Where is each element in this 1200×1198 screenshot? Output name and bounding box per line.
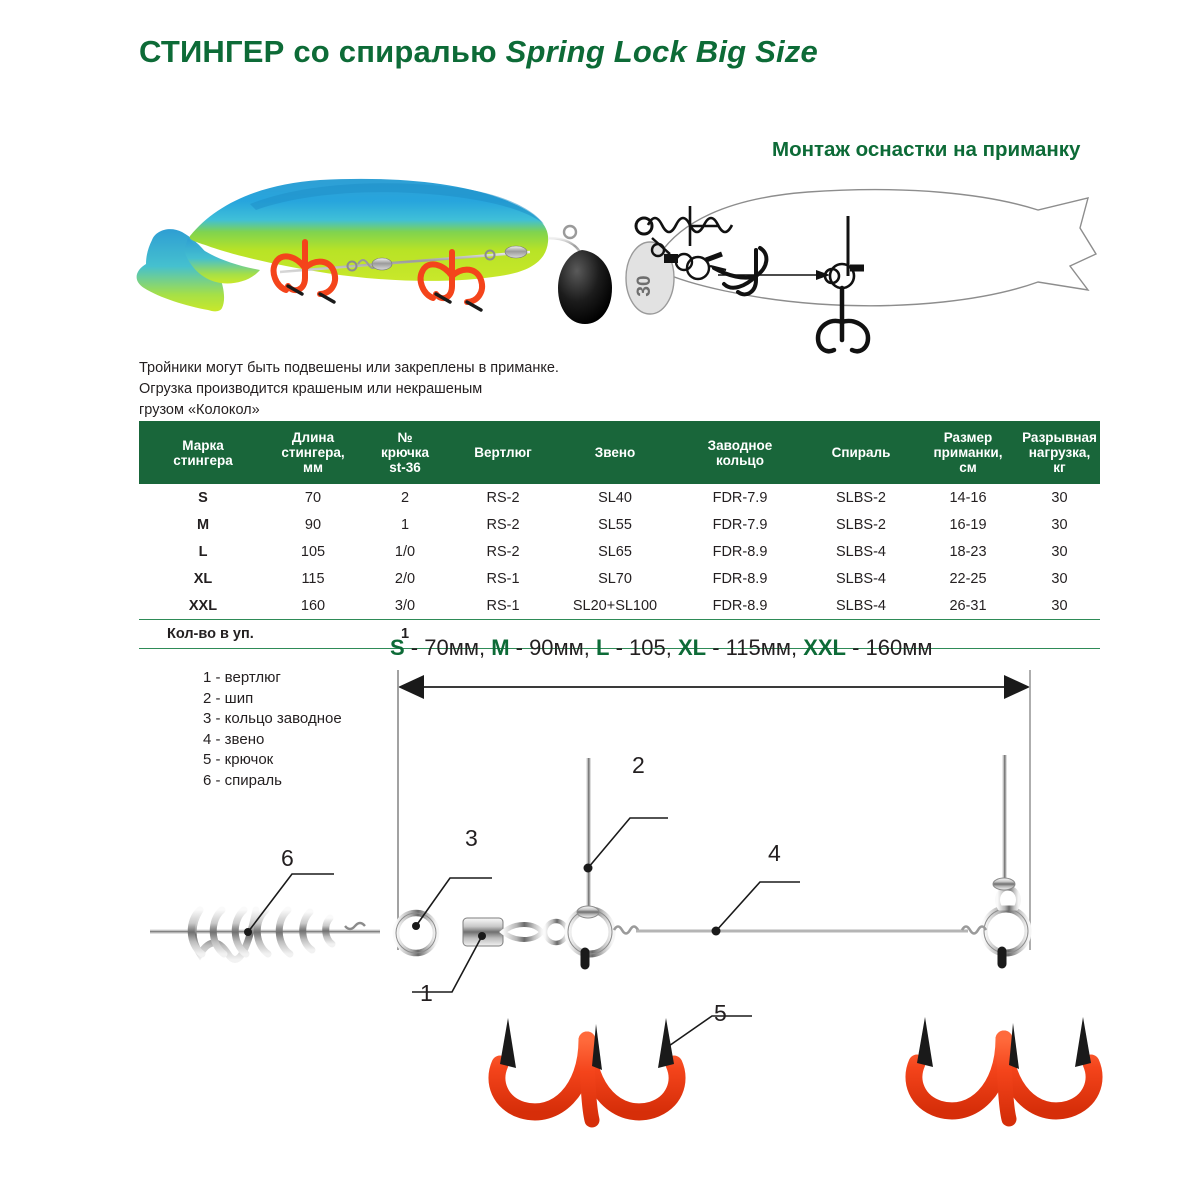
lure-photo bbox=[130, 160, 630, 350]
cell-load: 30 bbox=[1019, 538, 1100, 565]
cell-lure-size: 16-19 bbox=[917, 511, 1019, 538]
cell-hook: 2 bbox=[359, 484, 451, 511]
weight-split-ring bbox=[564, 226, 576, 238]
cell-link: SL40 bbox=[555, 484, 675, 511]
treble-hook-center bbox=[497, 952, 677, 1120]
cell-brand: L bbox=[139, 538, 267, 565]
swivel-barrel-2 bbox=[505, 246, 527, 258]
cell-ring: FDR-8.9 bbox=[675, 565, 805, 592]
cell-spiral: SLBS-2 bbox=[805, 511, 917, 538]
spiral-eye-ring bbox=[636, 218, 652, 234]
callout-number-6: 6 bbox=[281, 845, 294, 872]
cell-lure-size: 14-16 bbox=[917, 484, 1019, 511]
cell-swivel: RS-1 bbox=[451, 565, 555, 592]
callout-number-2: 2 bbox=[632, 752, 645, 779]
column-header-swivel: Вертлюг bbox=[451, 421, 555, 484]
spike-left bbox=[586, 758, 591, 910]
cell-swivel: RS-1 bbox=[451, 592, 555, 620]
callout-number-4: 4 bbox=[768, 840, 781, 867]
table-header-row: Марка стингера Длина стингера, мм № крюч… bbox=[139, 421, 1100, 484]
cell-ring: FDR-8.9 bbox=[675, 538, 805, 565]
usage-note-line-1: Тройники могут быть подвешены или закреп… bbox=[139, 358, 659, 379]
page-title: СТИНГЕР со спиралью Spring Lock Big Size bbox=[139, 34, 818, 70]
hook-bend-right-mid bbox=[1004, 1039, 1009, 1119]
cell-swivel: RS-2 bbox=[451, 484, 555, 511]
cell-spiral: SLBS-4 bbox=[805, 592, 917, 620]
page-title-main: СТИНГЕР со спиралью bbox=[139, 34, 506, 69]
cell-swivel: RS-2 bbox=[451, 538, 555, 565]
column-header-spiral: Спираль bbox=[805, 421, 917, 484]
column-header-link: Звено bbox=[555, 421, 675, 484]
column-header-split-ring: Заводное кольцо bbox=[675, 421, 805, 484]
cell-length: 70 bbox=[267, 484, 359, 511]
cell-lure-size: 18-23 bbox=[917, 538, 1019, 565]
cell-load: 30 bbox=[1019, 565, 1100, 592]
cell-brand: M bbox=[139, 511, 267, 538]
cell-lure-size: 22-25 bbox=[917, 565, 1019, 592]
cell-swivel: RS-2 bbox=[451, 511, 555, 538]
mount-section-heading: Монтаж оснастки на приманку bbox=[772, 138, 1080, 162]
cell-hook: 3/0 bbox=[359, 592, 451, 620]
mount-diagram: 30 bbox=[618, 180, 1108, 365]
cell-link: SL20+SL100 bbox=[555, 592, 675, 620]
cell-length: 105 bbox=[267, 538, 359, 565]
hook-bend-center-mid bbox=[587, 1040, 592, 1120]
page-title-italic: Spring Lock Big Size bbox=[506, 34, 818, 69]
cell-length: 90 bbox=[267, 511, 359, 538]
main-shaft bbox=[150, 929, 380, 934]
column-header-brand: Марка стингера bbox=[139, 421, 267, 484]
cell-load: 30 bbox=[1019, 511, 1100, 538]
usage-note: Тройники могут быть подвешены или закреп… bbox=[139, 358, 659, 421]
callout-number-3: 3 bbox=[465, 825, 478, 852]
link-ring-right bbox=[998, 888, 1019, 908]
spike-left-base bbox=[577, 906, 599, 918]
product-spec-sheet: СТИНГЕР со спиралью Spring Lock Big Size… bbox=[0, 0, 1200, 1198]
cell-length: 160 bbox=[267, 592, 359, 620]
cell-ring: FDR-7.9 bbox=[675, 484, 805, 511]
spiral-coil bbox=[191, 910, 332, 960]
wire-twist-left bbox=[614, 927, 638, 934]
cell-hook: 1/0 bbox=[359, 538, 451, 565]
treble-hook-right bbox=[914, 951, 1094, 1119]
spiral-tail-twist bbox=[345, 923, 365, 929]
table-row: XL 115 2/0 RS-1 SL70 FDR-8.9 SLBS-4 22-2… bbox=[139, 565, 1100, 592]
callout-number-1: 1 bbox=[420, 980, 433, 1007]
cell-brand: S bbox=[139, 484, 267, 511]
table-row: XXL 160 3/0 RS-1 SL20+SL100 FDR-8.9 SLBS… bbox=[139, 592, 1100, 620]
swivel-barrel-1 bbox=[372, 258, 392, 270]
cell-brand: XXL bbox=[139, 592, 267, 620]
cell-hook: 1 bbox=[359, 511, 451, 538]
hook-point-center-right bbox=[658, 1018, 674, 1068]
cell-link: SL55 bbox=[555, 511, 675, 538]
column-header-lure-size: Размер приманки, см bbox=[917, 421, 1019, 484]
specification-table: Марка стингера Длина стингера, мм № крюч… bbox=[139, 421, 1100, 649]
weight-label: 30 bbox=[634, 275, 655, 296]
cell-link: SL65 bbox=[555, 538, 675, 565]
table-row: M 90 1 RS-2 SL55 FDR-7.9 SLBS-2 16-19 30 bbox=[139, 511, 1100, 538]
assembly-diagram bbox=[0, 620, 1200, 1198]
column-header-hook: № крючка st-36 bbox=[359, 421, 451, 484]
cell-load: 30 bbox=[1019, 592, 1100, 620]
lure-outline bbox=[656, 190, 1096, 306]
swivel-eye-right bbox=[503, 925, 542, 940]
column-header-breaking-load: Разрывная нагрузка, кг bbox=[1019, 421, 1100, 484]
usage-note-line-3: грузом «Колокол» bbox=[139, 400, 659, 421]
cell-load: 30 bbox=[1019, 484, 1100, 511]
cell-ring: FDR-7.9 bbox=[675, 511, 805, 538]
cell-ring: FDR-8.9 bbox=[675, 592, 805, 620]
cell-hook: 2/0 bbox=[359, 565, 451, 592]
hook-point-center-left bbox=[500, 1018, 516, 1068]
cell-link: SL70 bbox=[555, 565, 675, 592]
hook-point-right-right bbox=[1075, 1017, 1091, 1067]
cell-brand: XL bbox=[139, 565, 267, 592]
column-header-length: Длина стингера, мм bbox=[267, 421, 359, 484]
callout-number-5: 5 bbox=[714, 1000, 727, 1027]
spike-right bbox=[1002, 755, 1007, 883]
split-ring-right-outline bbox=[984, 909, 1028, 953]
dimension-arrow bbox=[398, 670, 1030, 950]
cell-lure-size: 26-31 bbox=[917, 592, 1019, 620]
usage-note-line-2: Огрузка производится крашеным или некраш… bbox=[139, 379, 659, 400]
table-row: S 70 2 RS-2 SL40 FDR-7.9 SLBS-2 14-16 30 bbox=[139, 484, 1100, 511]
cell-spiral: SLBS-4 bbox=[805, 538, 917, 565]
bell-weight bbox=[558, 250, 612, 324]
spike-right-base bbox=[993, 878, 1015, 890]
swivel-barrel bbox=[463, 918, 503, 946]
hook-point-right-left bbox=[917, 1017, 933, 1067]
table-row: L 105 1/0 RS-2 SL65 FDR-8.9 SLBS-4 18-23… bbox=[139, 538, 1100, 565]
cell-spiral: SLBS-4 bbox=[805, 565, 917, 592]
split-ring-left-outline bbox=[396, 913, 436, 953]
cell-length: 115 bbox=[267, 565, 359, 592]
cell-spiral: SLBS-2 bbox=[805, 484, 917, 511]
